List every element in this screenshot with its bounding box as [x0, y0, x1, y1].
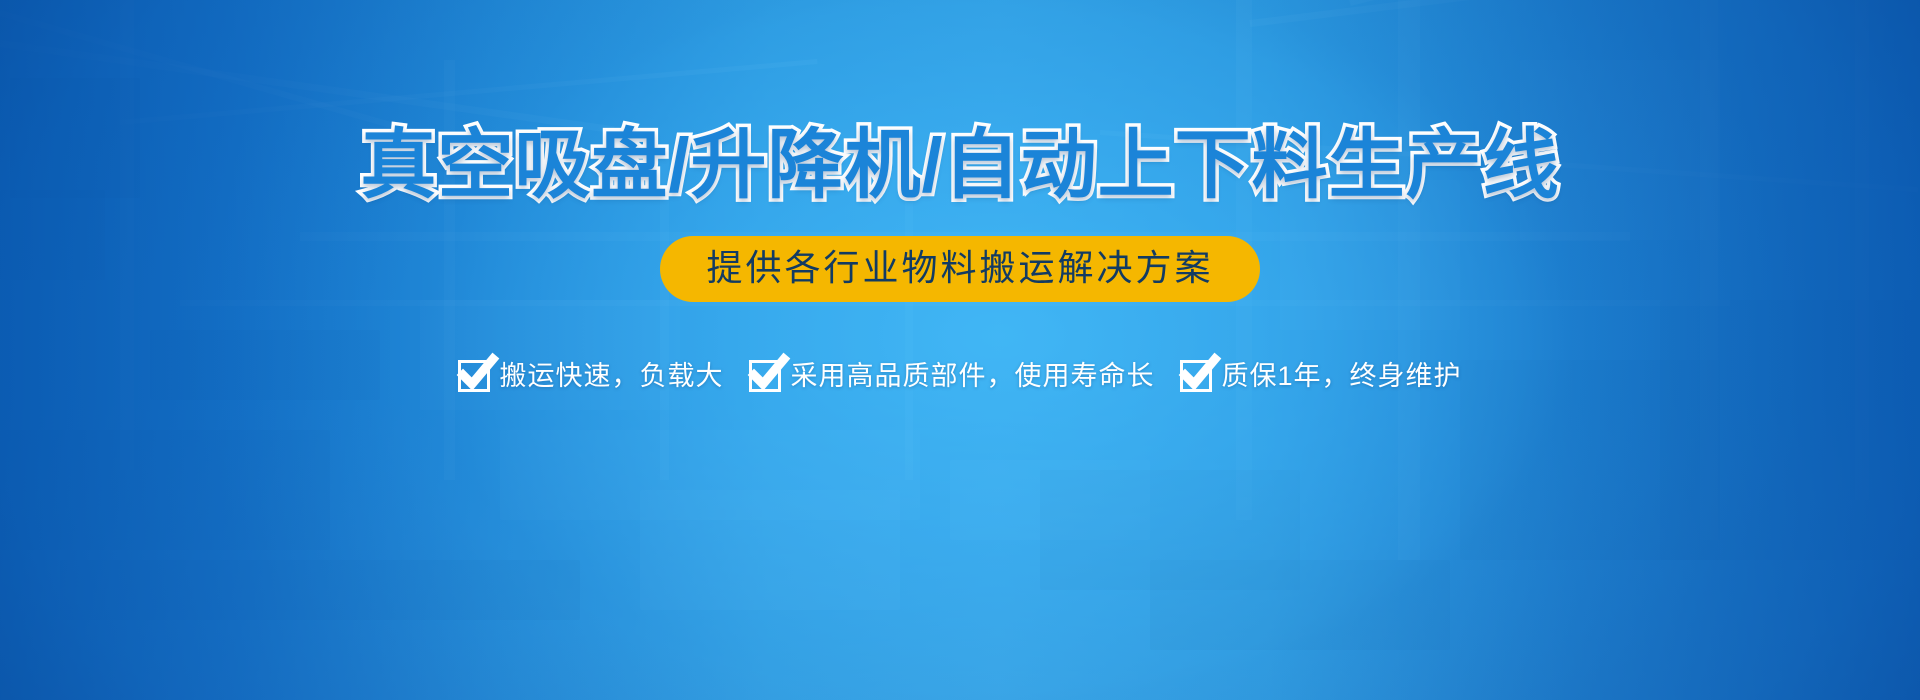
feature-label: 搬运快速，负载大 [499, 363, 723, 390]
feature-label: 质保1年，终身维护 [1221, 363, 1461, 390]
subtitle-text: 提供各行业物料搬运解决方案 [706, 247, 1213, 289]
feature-item: 采用高品质部件，使用寿命长 [749, 360, 1154, 392]
subtitle-pill: 提供各行业物料搬运解决方案 [660, 236, 1259, 302]
banner-content: 真空吸盘/升降机/自动上下料生产线 提供各行业物料搬运解决方案 搬运快速，负载大 [0, 0, 1920, 700]
feature-item: 搬运快速，负载大 [458, 360, 723, 392]
feature-item: 质保1年，终身维护 [1180, 360, 1461, 392]
feature-list: 搬运快速，负载大 采用高品质部件，使用寿命长 质保1年，终身维护 [458, 360, 1461, 392]
feature-label: 采用高品质部件，使用寿命长 [790, 363, 1154, 390]
checkmark-icon [749, 360, 781, 392]
checkmark-icon [1180, 360, 1212, 392]
banner-title: 真空吸盘/升降机/自动上下料生产线 [360, 128, 1559, 204]
hero-banner: 真空吸盘/升降机/自动上下料生产线 提供各行业物料搬运解决方案 搬运快速，负载大 [0, 0, 1920, 700]
checkmark-icon [458, 360, 490, 392]
